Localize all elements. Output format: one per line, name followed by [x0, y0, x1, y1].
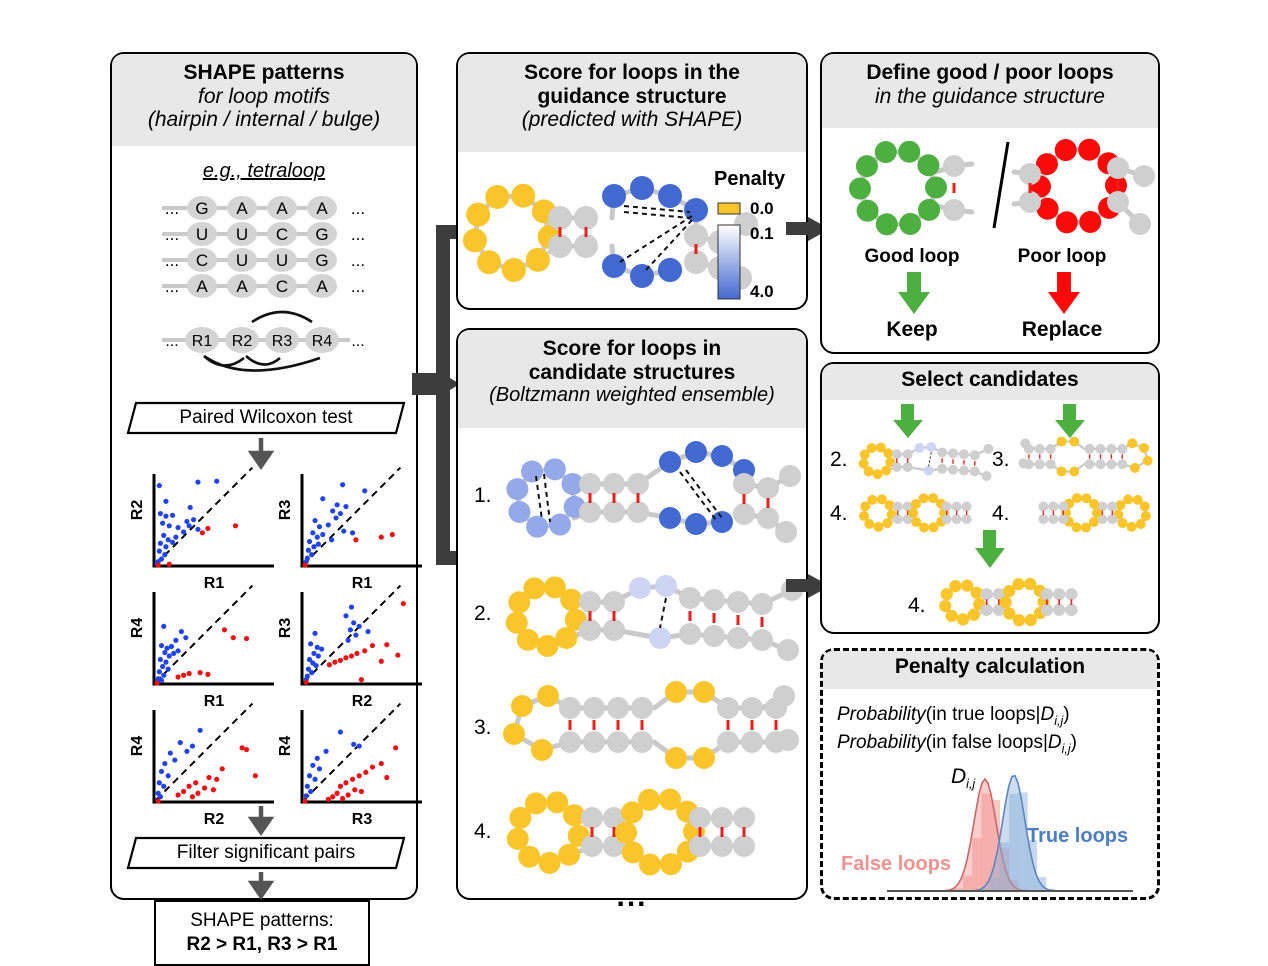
formula1-subscript: i,j	[1054, 714, 1063, 728]
panel-shape-patterns: SHAPE patterns for loop motifs (hairpin …	[110, 52, 418, 900]
svg-text:R3: R3	[272, 333, 293, 350]
panel3-title-line1: Score for loops in	[462, 337, 802, 361]
svg-text:G: G	[315, 225, 328, 244]
panel4-header: Define good / poor loops in the guidance…	[822, 54, 1158, 128]
svg-text:R1: R1	[204, 693, 225, 710]
svg-text:R3: R3	[277, 500, 294, 521]
arrow-down-3	[247, 872, 277, 900]
candidate-2-structure	[500, 558, 800, 668]
svg-text:...: ...	[351, 251, 365, 270]
step-wilcoxon: Paired Wilcoxon test	[126, 401, 406, 435]
formula2-suffix: )	[1071, 732, 1077, 753]
svg-text:...: ...	[165, 333, 178, 350]
panel1-title-line3: (hairpin / internal / bulge)	[116, 108, 412, 132]
svg-text:R4: R4	[312, 333, 333, 350]
panel1-header: SHAPE patterns for loop motifs (hairpin …	[112, 54, 416, 146]
panel3-title-line2: candidate structures	[462, 361, 802, 385]
scatter-plot-4: R3R2	[277, 586, 422, 710]
panel1-title-line1: SHAPE patterns	[116, 61, 412, 85]
candidate-4-number: 4.	[474, 820, 492, 844]
svg-text:A: A	[236, 199, 248, 218]
formula2-prefix: Probability	[837, 732, 926, 753]
candidate-4-structure	[500, 778, 800, 882]
select-item-2-structure	[856, 434, 992, 480]
panel6-header: Penalty calculation	[823, 651, 1157, 689]
svg-text:4.0: 4.0	[750, 282, 774, 301]
formula1-prefix: Probability	[837, 704, 926, 725]
svg-text:R1: R1	[352, 575, 373, 592]
step-wilcoxon-label: Paired Wilcoxon test	[126, 401, 406, 435]
svg-text:C: C	[276, 277, 288, 296]
figure-root: SHAPE patterns for loop motifs (hairpin …	[0, 0, 1268, 951]
svg-text:A: A	[316, 199, 328, 218]
panel2-title-line2: guidance structure	[462, 85, 802, 109]
panel-candidate-score: Score for loops in candidate structures …	[456, 328, 808, 900]
step-filter: Filter significant pairs	[126, 836, 406, 870]
formula-true-loops: Probability(in true loops|Di,j)	[837, 701, 1070, 730]
svg-text:R4: R4	[277, 736, 294, 757]
svg-text:...: ...	[165, 225, 179, 244]
svg-text:R3: R3	[352, 811, 373, 828]
panel1-title-line2: for loop motifs	[116, 85, 412, 109]
candidate-1-structure	[500, 440, 800, 550]
green-down-arrow-keep	[896, 272, 932, 316]
svg-text:U: U	[236, 251, 248, 270]
candidate-2-number: 2.	[474, 602, 492, 626]
candidate-3-number: 3.	[474, 716, 492, 740]
good-poor-loops-diagram	[826, 136, 1156, 248]
scatter-plots: R2R1R3R1R4R1R3R2R4R2R4R3	[118, 468, 414, 818]
svg-text:U: U	[236, 225, 248, 244]
tetraloop-sequence-grid: ...... ...... ...... ...... GA AA UU CG …	[134, 192, 398, 314]
candidates-more: ...	[458, 880, 806, 914]
svg-text:R2: R2	[232, 333, 253, 350]
select-item-3-structure	[1018, 434, 1154, 480]
shape-patterns-result: SHAPE patterns: R2 > R1, R3 > R1	[154, 900, 370, 966]
scatter-plot-1: R2R1	[129, 468, 274, 592]
formula1-suffix: )	[1063, 704, 1069, 725]
select-green-arrow-final	[974, 530, 1006, 570]
good-loop-label: Good loop	[842, 246, 982, 268]
svg-text:G: G	[195, 199, 208, 218]
panel6-title: Penalty calculation	[827, 655, 1153, 679]
svg-text:R3: R3	[277, 618, 294, 639]
svg-text:U: U	[276, 251, 288, 270]
svg-text:R4: R4	[129, 736, 146, 757]
panel-select-candidates: Select candidates 2. 3. 4. 4. 4.	[820, 362, 1160, 634]
svg-text:R2: R2	[352, 693, 373, 710]
panel-guidance-score: Score for loops in the guidance structur…	[456, 52, 808, 310]
svg-text:...: ...	[165, 277, 179, 296]
svg-text:R1: R1	[204, 575, 225, 592]
svg-text:A: A	[316, 277, 328, 296]
svg-text:R2: R2	[129, 500, 146, 521]
panel5-header: Select candidates	[822, 364, 1158, 400]
scatter-grid: R2R1R3R1R4R1R3R2R4R2R4R3	[118, 468, 414, 818]
panel-define-loops: Define good / poor loops in the guidance…	[820, 52, 1160, 354]
legend-title: Penalty	[714, 168, 800, 191]
panel2-title-line3: (predicted with SHAPE)	[462, 108, 802, 132]
result-line1: SHAPE patterns:	[156, 910, 368, 932]
svg-text:0.1: 0.1	[750, 224, 774, 243]
replace-label: Replace	[992, 318, 1132, 342]
formula1-variable: D	[1041, 704, 1055, 725]
svg-text:R4: R4	[129, 618, 146, 639]
panel3-header: Score for loops in candidate structures …	[458, 330, 806, 428]
formula1-middle: (in true loops|	[926, 704, 1041, 725]
example-label: e.g., tetraloop	[112, 160, 416, 183]
axis-var-sub: i,j	[966, 777, 975, 791]
svg-text:G: G	[315, 251, 328, 270]
residue-row: ...... R1R2 R3R4	[134, 306, 398, 386]
svg-text:...: ...	[351, 277, 365, 296]
axis-var: D	[951, 765, 966, 788]
distribution-axis-label: Di,j	[951, 765, 975, 791]
poor-loop-label: Poor loop	[992, 246, 1132, 268]
scatter-plot-6: R4R3	[277, 704, 422, 828]
panel3-title-line3: (Boltzmann weighted ensemble)	[462, 384, 802, 407]
selected-candidate-number: 4.	[908, 594, 926, 618]
select-item-4a-number: 4.	[830, 502, 848, 526]
result-line2: R2 > R1, R3 > R1	[156, 934, 368, 956]
formula2-variable: D	[1048, 732, 1062, 753]
false-loops-legend: False loops	[841, 853, 951, 876]
svg-text:U: U	[196, 225, 208, 244]
svg-text:R1: R1	[192, 333, 213, 350]
select-item-4b-number: 4.	[992, 502, 1010, 526]
panel5-title: Select candidates	[826, 368, 1154, 392]
arrow-down-2	[247, 806, 277, 836]
panel2-header: Score for loops in the guidance structur…	[458, 54, 806, 152]
svg-text:...: ...	[165, 251, 179, 270]
select-item-3-number: 3.	[992, 448, 1010, 472]
panel2-title-line1: Score for loops in the	[462, 61, 802, 85]
svg-text:A: A	[196, 277, 208, 296]
true-loops-legend: True loops	[1027, 825, 1128, 848]
selected-candidate-structure	[934, 572, 1104, 630]
panel4-title-line2: in the guidance structure	[826, 85, 1154, 109]
svg-text:...: ...	[351, 333, 364, 350]
formula2-subscript: i,j	[1062, 742, 1071, 756]
formula-false-loops: Probability(in false loops|Di,j)	[837, 729, 1077, 758]
svg-text:A: A	[276, 199, 288, 218]
scatter-plot-3: R4R1	[129, 586, 274, 710]
red-down-arrow-replace	[1046, 272, 1082, 316]
step-filter-label: Filter significant pairs	[126, 836, 406, 870]
select-item-4b-structure	[1018, 488, 1154, 534]
panel4-title-line1: Define good / poor loops	[826, 61, 1154, 85]
panel-penalty-calculation: Penalty calculation Probability(in true …	[820, 648, 1160, 900]
formula2-middle: (in false loops|	[926, 732, 1048, 753]
keep-label: Keep	[842, 318, 982, 342]
guidance-structure-diagram	[464, 166, 712, 298]
svg-text:...: ...	[351, 225, 365, 244]
candidate-3-structure	[500, 676, 800, 776]
svg-text:C: C	[196, 251, 208, 270]
svg-text:R2: R2	[204, 811, 225, 828]
arrow-down-1	[247, 438, 277, 468]
select-item-2-number: 2.	[830, 448, 848, 472]
candidate-1-number: 1.	[474, 484, 492, 508]
svg-text:...: ...	[351, 199, 365, 218]
scatter-plot-2: R3R1	[277, 468, 422, 592]
svg-text:0.0: 0.0	[750, 199, 774, 218]
svg-text:...: ...	[165, 199, 179, 218]
svg-text:C: C	[276, 225, 288, 244]
select-item-4a-structure	[856, 488, 992, 534]
svg-text:A: A	[236, 277, 248, 296]
